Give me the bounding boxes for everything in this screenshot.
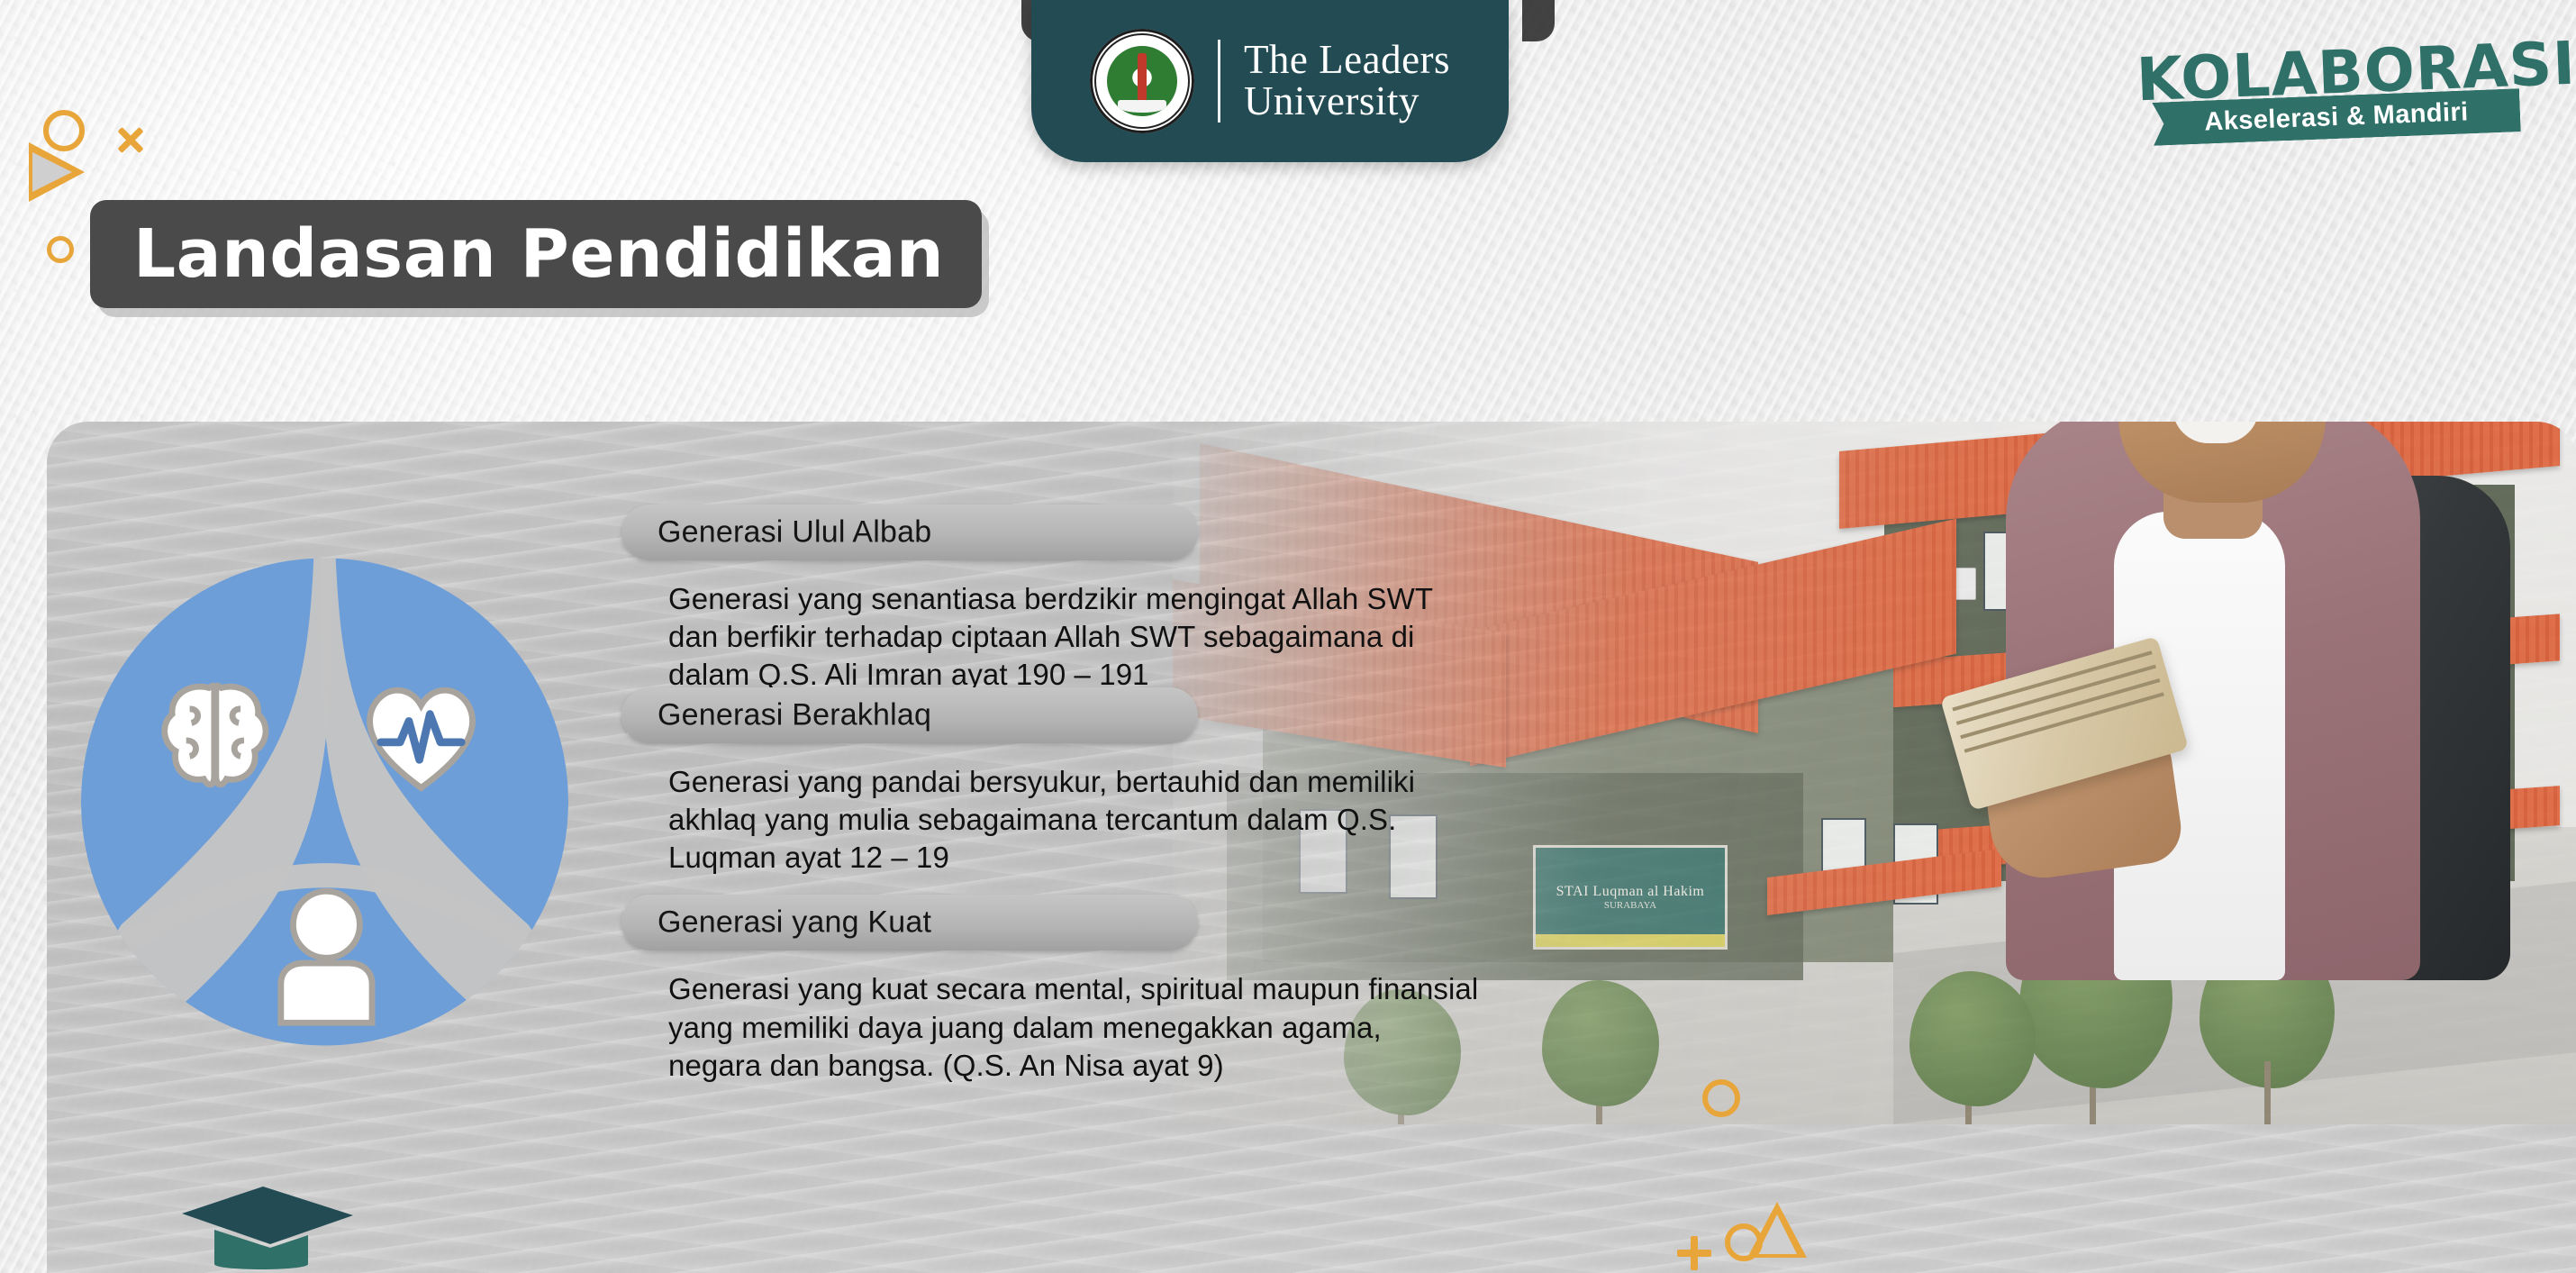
block-heading-pill: Generasi Ulul Albab: [621, 505, 1198, 560]
block-body: Generasi yang pandai bersyukur, bertauhi…: [668, 763, 1479, 877]
block-heading: Generasi Berakhlaq: [658, 697, 931, 732]
triad-svg: [79, 550, 570, 1054]
brand-line-1: The Leaders: [1244, 40, 1450, 81]
content-block: Generasi Ulul Albab Generasi yang senant…: [621, 505, 1792, 695]
header-brand-tab: The Leaders University: [1031, 0, 1509, 162]
decor-plus-icon: [1677, 1236, 1711, 1270]
student-photo: [1952, 422, 2528, 1250]
decor-triangle-icon: [29, 142, 85, 202]
content-panel: STAI Luqman al Hakim SURABAYA: [47, 422, 2576, 1273]
block-heading-pill: Generasi Berakhlaq: [621, 687, 1198, 743]
block-heading: Generasi yang Kuat: [658, 905, 931, 941]
content-block: Generasi yang Kuat Generasi yang kuat se…: [621, 895, 1792, 1085]
content-blocks: Generasi Ulul Albab Generasi yang senant…: [621, 505, 1792, 1090]
page-title: Landasan Pendidikan: [133, 215, 944, 293]
decor-circle-icon-3: [1725, 1223, 1763, 1261]
slide-canvas: The Leaders University KOLABORASI Aksele…: [0, 0, 2576, 1273]
block-body: Generasi yang kuat secara mental, spirit…: [668, 970, 1479, 1085]
brain-icon: [165, 686, 266, 785]
decor-small-circle-icon: [47, 236, 74, 263]
decor-x-icon: [115, 124, 146, 155]
brand-line-2: University: [1244, 81, 1450, 123]
triad-diagram: [79, 550, 570, 1054]
brand-name: The Leaders University: [1244, 40, 1450, 123]
block-heading-pill: Generasi yang Kuat: [621, 895, 1198, 950]
content-block: Generasi Berakhlaq Generasi yang pandai …: [621, 687, 1792, 877]
university-seal-icon: [1090, 29, 1194, 133]
page-title-pill: Landasan Pendidikan: [90, 200, 982, 308]
block-heading: Generasi Ulul Albab: [658, 515, 931, 550]
header-divider: [1218, 40, 1220, 123]
header-tab-ear-right: [1522, 0, 1555, 41]
kolaborasi-badge: KOLABORASI Akselerasi & Mandiri: [2136, 38, 2533, 139]
decor-circle-icon-2: [1702, 1079, 1740, 1117]
graduation-cap-icon: [173, 1170, 362, 1273]
kolaborasi-ribbon-label: Akselerasi & Mandiri: [2204, 97, 2469, 137]
block-body: Generasi yang senantiasa berdzikir mengi…: [668, 580, 1479, 695]
